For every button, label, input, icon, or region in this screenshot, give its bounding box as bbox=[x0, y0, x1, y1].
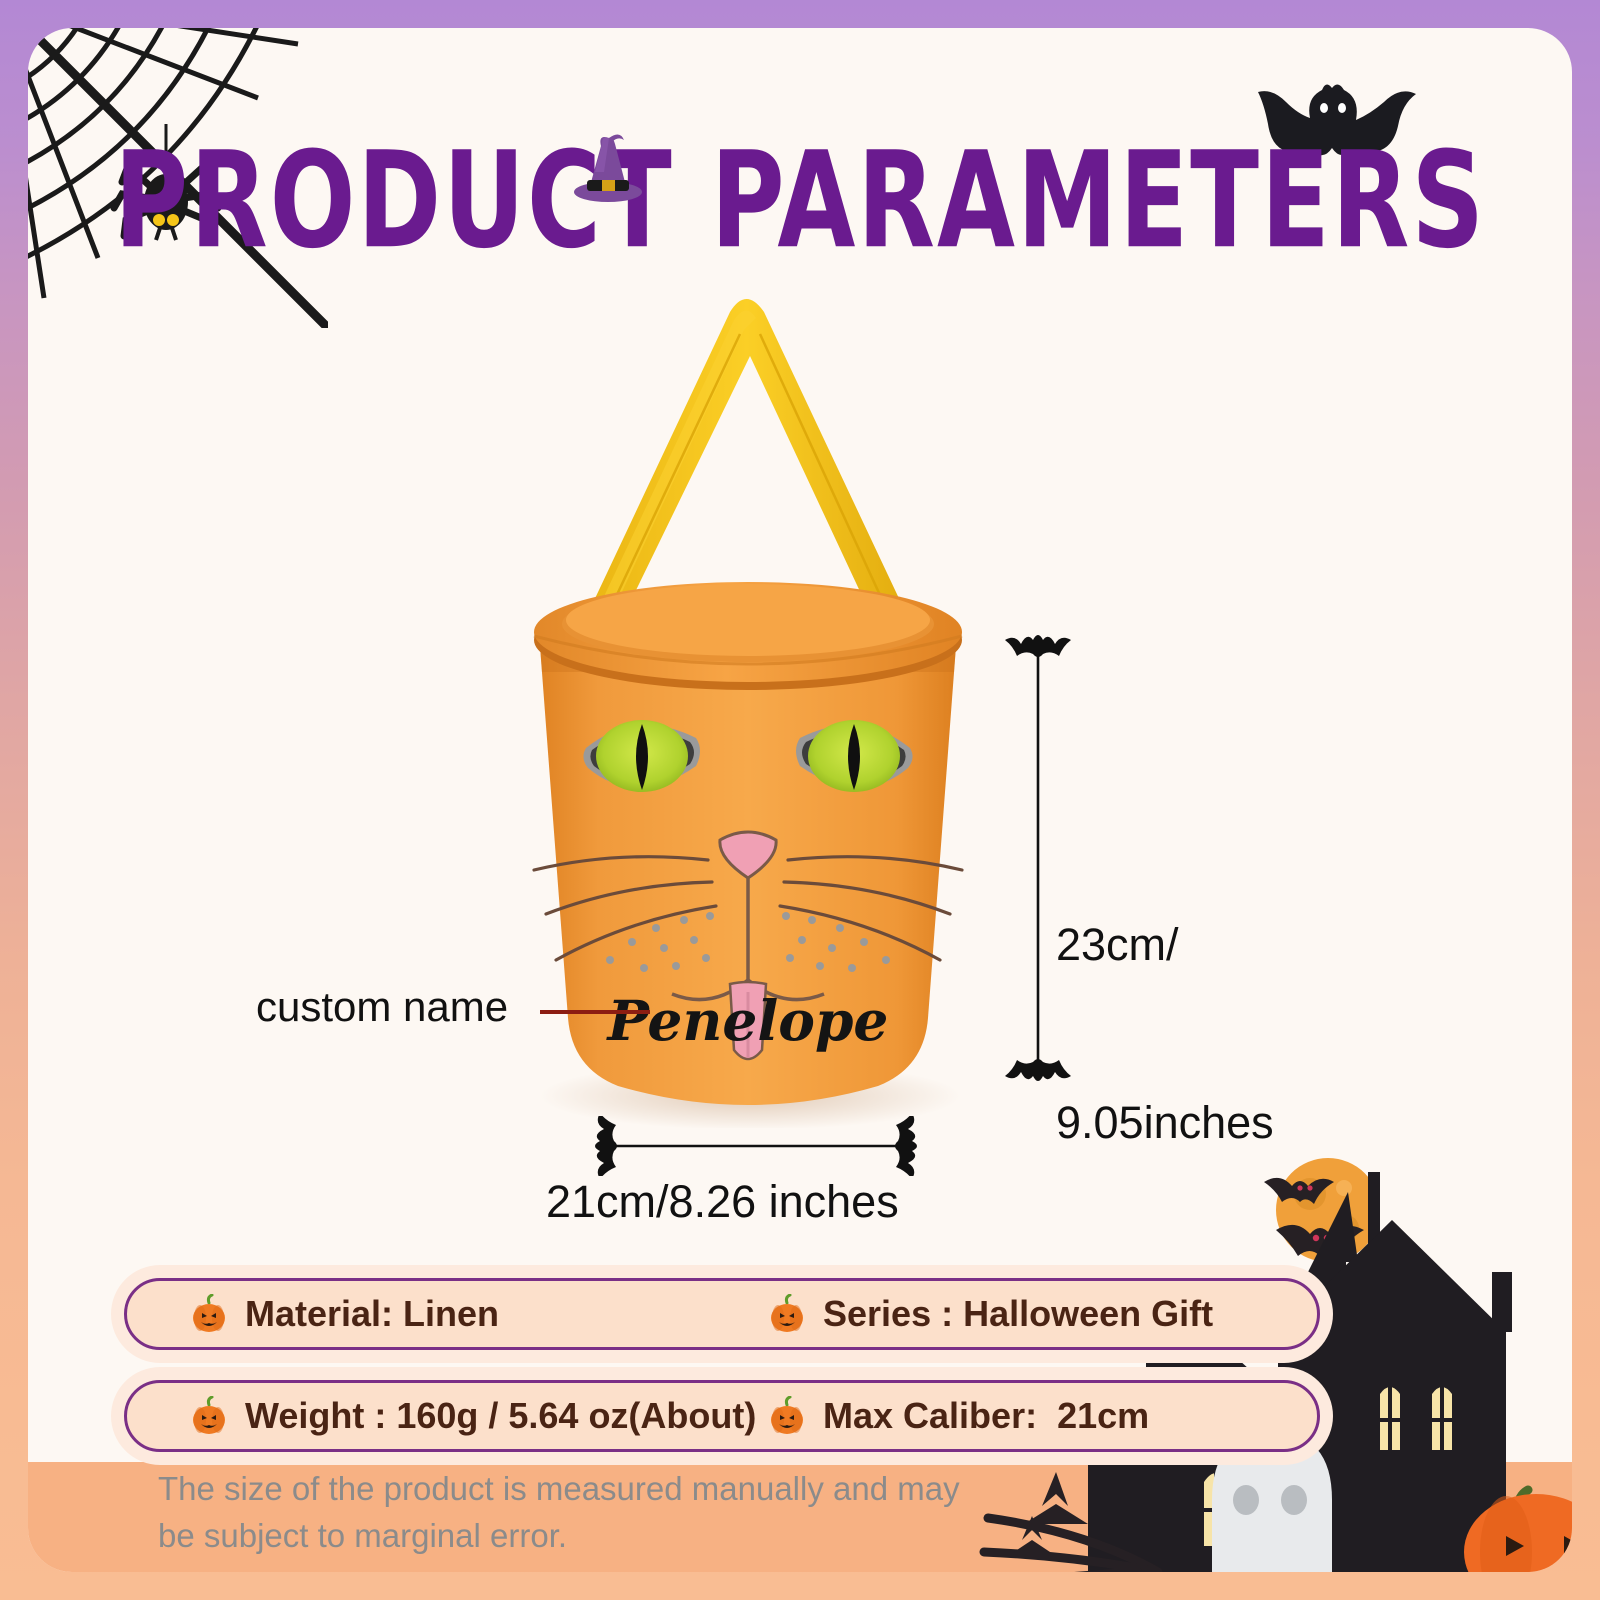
pumpkin-icon bbox=[767, 1294, 807, 1334]
bat-arrow-right bbox=[895, 1116, 917, 1176]
bat-arrow-top bbox=[1005, 635, 1071, 657]
height-dimension-in: 9.05inches bbox=[1056, 1093, 1274, 1152]
spec-cell-weight: Weight : 160g / 5.64 oz(About) bbox=[127, 1395, 767, 1437]
tree-icon bbox=[984, 1518, 1158, 1572]
pumpkin-icon bbox=[767, 1396, 807, 1436]
tree-icon bbox=[1014, 1472, 1088, 1572]
height-dimension-text: 23cm/ 9.05inches bbox=[1056, 796, 1274, 1271]
pumpkin-icon bbox=[189, 1396, 229, 1436]
pumpkin-icon bbox=[1464, 1490, 1572, 1572]
spec-cell-material: Material: Linen bbox=[127, 1293, 767, 1335]
width-dimension-text: 21cm/8.26 inches bbox=[546, 1176, 899, 1228]
custom-name-value: Penelope bbox=[606, 988, 889, 1053]
ghost-icon bbox=[1212, 1432, 1332, 1572]
moon-with-bats-icon bbox=[1264, 1158, 1380, 1262]
spec-row: Material: Linen Series : Halloween Gift bbox=[124, 1278, 1320, 1350]
content-card: PRODUCT PARAMETERS bbox=[28, 28, 1572, 1572]
pumpkin-icon bbox=[189, 1294, 229, 1334]
page-title-wrap: PRODUCT PARAMETERS bbox=[28, 140, 1572, 236]
infographic-page: PRODUCT PARAMETERS bbox=[0, 0, 1600, 1600]
page-title: PRODUCT PARAMETERS bbox=[114, 140, 1486, 262]
custom-name-label: custom name bbox=[256, 983, 508, 1031]
spec-cell-max-caliber: Max Caliber: 21cm bbox=[767, 1395, 1317, 1437]
bat-arrow-left bbox=[595, 1116, 617, 1176]
spec-cell-series: Series : Halloween Gift bbox=[767, 1293, 1317, 1335]
custom-name-leader-line bbox=[540, 1010, 650, 1014]
spec-label-max-caliber: Max Caliber: 21cm bbox=[823, 1395, 1149, 1437]
height-dimension-cm: 23cm/ bbox=[1056, 915, 1274, 974]
witch-hat-icon bbox=[568, 132, 646, 214]
spec-label-weight: Weight : 160g / 5.64 oz(About) bbox=[245, 1395, 756, 1437]
width-dimension-line bbox=[576, 1116, 936, 1176]
disclaimer-text: The size of the product is measured manu… bbox=[158, 1466, 978, 1560]
spec-label-series: Series : Halloween Gift bbox=[823, 1293, 1213, 1335]
spec-row: Weight : 160g / 5.64 oz(About) Max Calib… bbox=[124, 1380, 1320, 1452]
product-image-cat-tote-bag: Penelope bbox=[468, 268, 1028, 1128]
spec-label-material: Material: Linen bbox=[245, 1293, 499, 1335]
bag-rim bbox=[534, 582, 962, 690]
